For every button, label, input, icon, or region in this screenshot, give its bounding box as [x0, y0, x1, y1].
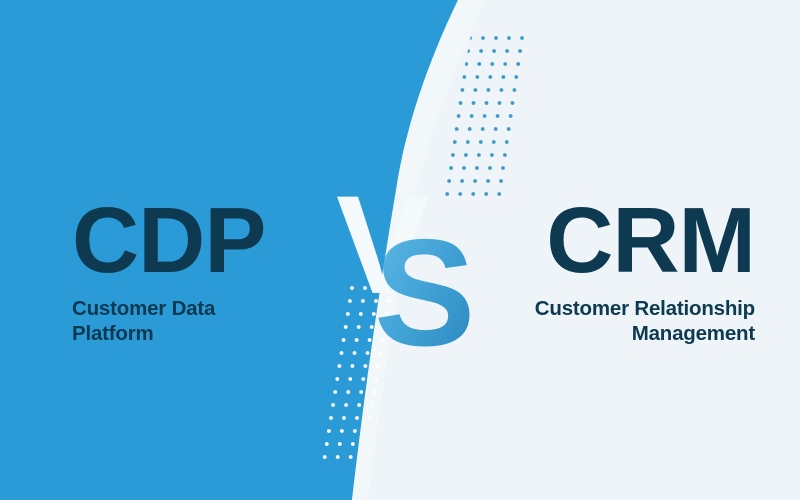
decor-dot [501, 75, 505, 79]
decor-dot [372, 312, 376, 316]
decor-dot [499, 179, 503, 183]
banner-canvas: CDP Customer Data Platform V S CRM Custo… [0, 0, 800, 500]
decor-dot [481, 36, 485, 40]
decor-dot [340, 429, 344, 433]
cdp-subtitle-line1: Customer Data [72, 297, 215, 320]
decor-dot [381, 338, 385, 342]
cdp-subtitle-line2: Platform [72, 322, 154, 345]
decor-dot [487, 88, 491, 92]
decor-dot [514, 75, 518, 79]
decor-dot [376, 286, 380, 290]
decor-dot [457, 114, 461, 118]
decor-dot [501, 166, 505, 170]
decor-dot [348, 377, 352, 381]
decor-dot [385, 312, 389, 316]
decor-dot [389, 286, 393, 290]
decor-dot [363, 286, 367, 290]
decor-dot [474, 88, 478, 92]
decor-dot [366, 351, 370, 355]
decor-dot [492, 140, 496, 144]
decor-dot [486, 179, 490, 183]
decor-dot [361, 299, 365, 303]
decor-dot [353, 429, 357, 433]
decor-dot [462, 75, 466, 79]
decor-dot [361, 377, 365, 381]
cdp-block: CDP Customer Data Platform [72, 196, 265, 346]
decor-dot [498, 101, 502, 105]
decor-dot [342, 338, 346, 342]
decor-dot [473, 179, 477, 183]
decor-dot [351, 442, 355, 446]
decor-dot [336, 455, 340, 459]
decor-dot [349, 455, 353, 459]
crm-subtitle-line2: Management [632, 322, 755, 345]
decor-dot [383, 325, 387, 329]
decor-dot [346, 312, 350, 316]
crm-block: CRM Customer Relationship Management [395, 196, 755, 346]
decor-dot [357, 403, 361, 407]
decor-dot [518, 49, 522, 53]
decor-dot [490, 153, 494, 157]
decor-dot [516, 62, 520, 66]
decor-dot [468, 127, 472, 131]
decor-dot [464, 153, 468, 157]
crm-subtitle: Customer Relationship Management [395, 284, 755, 346]
decor-dot [374, 377, 378, 381]
decor-dot [447, 179, 451, 183]
decor-dot [350, 286, 354, 290]
decor-dot [377, 364, 381, 368]
decor-dot [348, 299, 352, 303]
decor-dot [520, 36, 524, 40]
decor-dot [483, 114, 487, 118]
decor-dot [331, 403, 335, 407]
decor-dot [492, 49, 496, 53]
decor-dot [340, 351, 344, 355]
decor-dot [329, 416, 333, 420]
decor-dot [359, 312, 363, 316]
decor-dot [500, 88, 504, 92]
decor-dot [364, 364, 368, 368]
decor-dot [494, 127, 498, 131]
decor-dot [470, 114, 474, 118]
decor-dot [485, 101, 489, 105]
decor-dot [475, 75, 479, 79]
decor-dot [511, 101, 515, 105]
decor-dot [368, 338, 372, 342]
decor-dot [460, 179, 464, 183]
decor-dot [355, 338, 359, 342]
decor-dot [327, 429, 331, 433]
decor-dot [496, 114, 500, 118]
decor-dot [455, 127, 459, 131]
decor-dot [351, 364, 355, 368]
decor-dot [370, 325, 374, 329]
decor-dot [507, 127, 511, 131]
decor-dot [333, 390, 337, 394]
decor-dot [357, 325, 361, 329]
decor-dot [338, 442, 342, 446]
cdp-subtitle: Customer Data Platform [72, 284, 265, 346]
cdp-acronym: CDP [72, 196, 265, 284]
decor-dot [477, 62, 481, 66]
decor-dot [359, 390, 363, 394]
decor-dot [325, 442, 329, 446]
decor-dot [462, 166, 466, 170]
decor-dot [449, 166, 453, 170]
decor-dot [479, 140, 483, 144]
decor-dot [507, 36, 511, 40]
decor-dot [503, 62, 507, 66]
decor-dot [466, 140, 470, 144]
decor-dot [479, 49, 483, 53]
decor-dot [335, 377, 339, 381]
decor-dot [374, 299, 378, 303]
decor-dot [488, 75, 492, 79]
decor-dot [459, 101, 463, 105]
decor-dot [513, 88, 517, 92]
decor-dot [451, 153, 455, 157]
decor-dot [494, 36, 498, 40]
decor-dot [344, 403, 348, 407]
decor-dot [338, 364, 342, 368]
decor-dot [346, 390, 350, 394]
decor-dot [488, 166, 492, 170]
decor-dot [477, 153, 481, 157]
decor-dot [344, 325, 348, 329]
decor-dot [490, 62, 494, 66]
decor-dot [503, 153, 507, 157]
decor-dot [323, 455, 327, 459]
decor-dot [387, 299, 391, 303]
decor-dot [379, 351, 383, 355]
decor-dot [475, 166, 479, 170]
decor-dot [355, 416, 359, 420]
decor-dot [505, 140, 509, 144]
decor-dot [481, 127, 485, 131]
decor-dot [453, 140, 457, 144]
decor-dot [505, 49, 509, 53]
decor-dot [342, 416, 346, 420]
decor-dot [509, 114, 513, 118]
decor-dot [472, 101, 476, 105]
decor-dot [461, 88, 465, 92]
crm-subtitle-line1: Customer Relationship [535, 297, 755, 320]
crm-acronym: CRM [395, 196, 755, 284]
decor-dot [353, 351, 357, 355]
